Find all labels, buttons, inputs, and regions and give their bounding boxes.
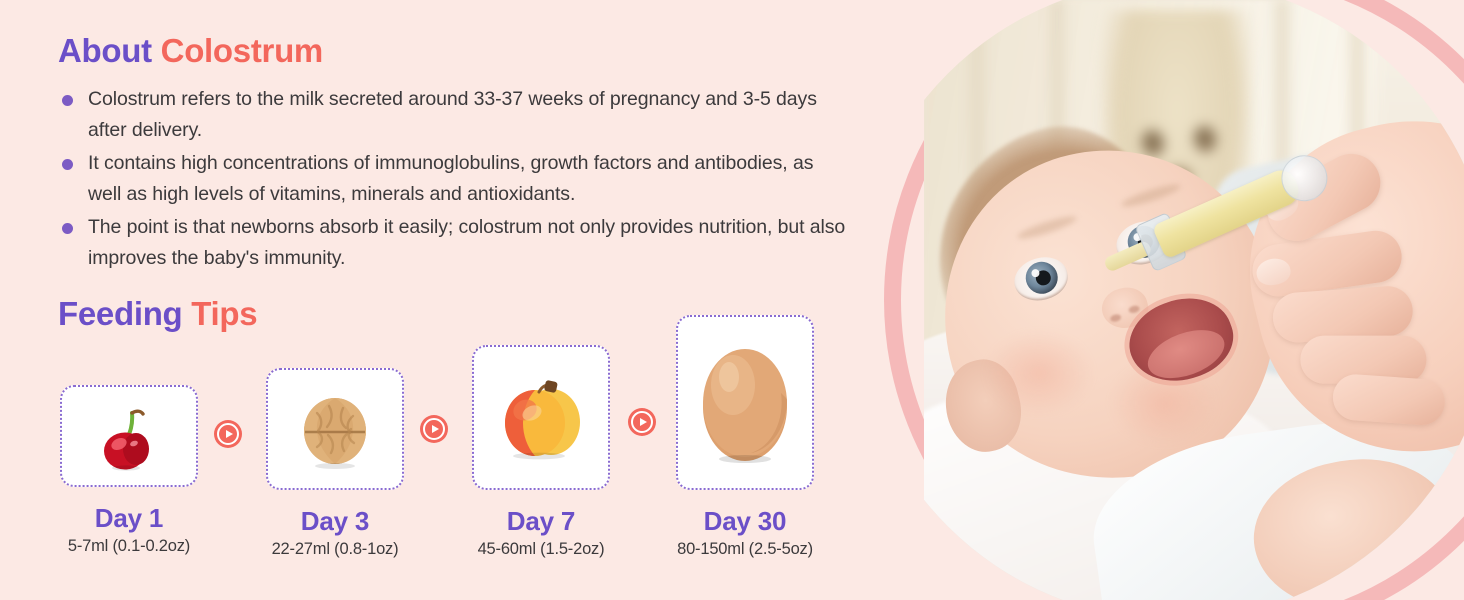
list-item: The point is that newborns absorb it eas…: [58, 212, 848, 274]
bullet-text: It contains high concentrations of immun…: [88, 152, 813, 205]
egg-icon: [689, 333, 801, 473]
play-arrow-ring: [631, 411, 653, 433]
cherry-icon: [92, 399, 166, 473]
play-arrow-icon: [628, 408, 656, 436]
feeding-step-day-7: Day 7 45-60ml (1.5-2oz): [472, 345, 610, 490]
feeding-step-day-3: Day 3 22-27ml (0.8-1oz): [266, 368, 404, 490]
baby-nostril: [1109, 313, 1121, 322]
feeding-step-day-label: Day 7: [472, 506, 610, 537]
peach-icon: [489, 366, 593, 470]
about-heading-word-1: About: [58, 32, 152, 69]
list-item: Colostrum refers to the milk secreted ar…: [58, 84, 848, 146]
bullet-dot-icon: [62, 223, 73, 234]
bullet-dot-icon: [62, 95, 73, 106]
about-heading: About Colostrum: [58, 32, 323, 70]
left-content-panel: About Colostrum Colostrum refers to the …: [0, 0, 880, 600]
play-arrow-icon: [214, 420, 242, 448]
about-bullet-list: Colostrum refers to the milk secreted ar…: [58, 84, 848, 276]
feeding-step-day-label: Day 3: [266, 506, 404, 537]
feeding-step-amount: 80-150ml (2.5-5oz): [676, 540, 814, 559]
play-arrow-triangle: [640, 418, 647, 426]
feeding-step-day-label: Day 1: [60, 503, 198, 534]
feeding-step-amount: 22-27ml (0.8-1oz): [266, 540, 404, 559]
play-arrow-ring: [217, 423, 239, 445]
baby-cheek: [984, 330, 1094, 416]
walnut-icon: [291, 385, 379, 473]
feeding-step-card[interactable]: [472, 345, 610, 490]
finger: [1331, 373, 1446, 427]
feeding-step-amount: 45-60ml (1.5-2oz): [472, 540, 610, 559]
teddy-eye: [1191, 124, 1219, 155]
feeding-step-day-30: Day 30 80-150ml (2.5-5oz): [676, 315, 814, 490]
play-arrow-ring: [423, 418, 445, 440]
hero-photo-panel: [854, 0, 1464, 600]
play-arrow-icon: [420, 415, 448, 443]
feeding-step-card[interactable]: [676, 315, 814, 490]
baby-photo-image: [924, 0, 1464, 600]
baby-photo: [924, 0, 1464, 600]
baby-nostril: [1128, 305, 1140, 314]
about-heading-word-2: Colostrum: [161, 32, 323, 69]
feeding-steps: Day 1 5-7ml (0.1-0.2oz): [0, 300, 880, 590]
bullet-text: Colostrum refers to the milk secreted ar…: [88, 88, 817, 141]
play-arrow-triangle: [432, 425, 439, 433]
feeding-step-day-1: Day 1 5-7ml (0.1-0.2oz): [60, 385, 198, 487]
bullet-dot-icon: [62, 159, 73, 170]
feeding-step-amount: 5-7ml (0.1-0.2oz): [60, 537, 198, 556]
feeding-step-card[interactable]: [266, 368, 404, 490]
list-item: It contains high concentrations of immun…: [58, 148, 848, 210]
feeding-step-day-label: Day 30: [676, 506, 814, 537]
infographic-page: About Colostrum Colostrum refers to the …: [0, 0, 1464, 600]
bullet-text: The point is that newborns absorb it eas…: [88, 216, 845, 269]
play-arrow-triangle: [226, 430, 233, 438]
baby-photo-mask: [924, 0, 1464, 600]
feeding-step-card[interactable]: [60, 385, 198, 487]
